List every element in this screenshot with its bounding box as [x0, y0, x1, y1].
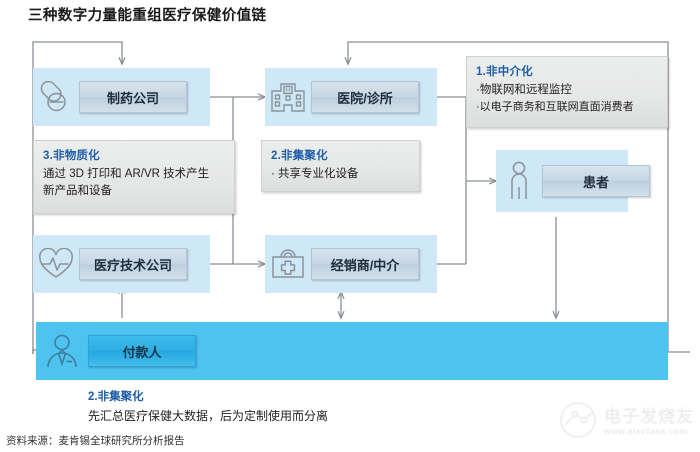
card-bullet: ·以电子商务和互联网直面消费者: [476, 99, 658, 116]
caption-body: 先汇总医疗保健大数据，后为定制使用而分离: [88, 407, 328, 424]
node-label-distributor-intermediary: 经销商/中介: [311, 248, 419, 280]
diagram-canvas: 三种数字力量能重组医疗保健价值链: [0, 0, 700, 452]
node-distributor-intermediary[interactable]: 经销商/中介: [265, 235, 437, 293]
node-payer[interactable]: 付款人: [36, 322, 668, 380]
node-hospital-clinic[interactable]: H 医院/诊所: [265, 68, 437, 126]
node-label-pharmaceutical-company: 制药公司: [79, 81, 187, 113]
card-bullet: · 共享专业化设备: [271, 166, 410, 183]
node-medtech-company[interactable]: 医疗技术公司: [33, 235, 210, 293]
watermark-line-2: www.elecfans.com: [604, 427, 694, 436]
node-label-medtech-company: 医疗技术公司: [79, 248, 187, 280]
medical-briefcase-icon: [265, 235, 311, 293]
card-heading: 3.非物质化: [43, 147, 225, 163]
node-patient[interactable]: 患者: [496, 150, 628, 212]
person-tie-icon: [36, 322, 88, 380]
card-heading: 2.非集聚化: [271, 147, 410, 163]
card-bullet: 新产品和设备: [43, 183, 225, 200]
source-note: 资料来源：麦肯锡全球研究所分析报告: [6, 433, 185, 448]
hospital-icon: H: [265, 68, 311, 126]
node-label-hospital-clinic: 医院/诊所: [311, 81, 419, 113]
node-pharmaceutical-company[interactable]: 制药公司: [33, 68, 210, 126]
card-dematerialization: 3.非物质化 通过 3D 打印和 AR/VR 技术产生 新产品和设备: [33, 140, 235, 214]
card-bullet: ·物联网和远程监控: [476, 82, 658, 99]
heart-pulse-icon: [33, 235, 79, 293]
svg-text:H: H: [285, 87, 290, 94]
caption-heading: 2.非集聚化: [88, 388, 144, 404]
watermark-logo-icon: [557, 399, 601, 444]
page-title: 三种数字力量能重组医疗保健价值链: [28, 4, 266, 25]
person-icon: [496, 150, 542, 212]
watermark-line-1: 电子发烧友: [604, 408, 694, 425]
node-label-patient: 患者: [542, 165, 650, 197]
card-disaggregation: 2.非集聚化 · 共享专业化设备: [261, 140, 420, 192]
card-bullet: 通过 3D 打印和 AR/VR 技术产生: [43, 166, 225, 183]
node-label-payer: 付款人: [88, 335, 196, 367]
pill-icon: [33, 68, 79, 126]
watermark: 电子发烧友 www.elecfans.com: [557, 399, 694, 444]
card-disintermediation: 1.非中介化 ·物联网和远程监控 ·以电子商务和互联网直面消费者: [466, 56, 668, 128]
card-heading: 1.非中介化: [476, 63, 658, 79]
